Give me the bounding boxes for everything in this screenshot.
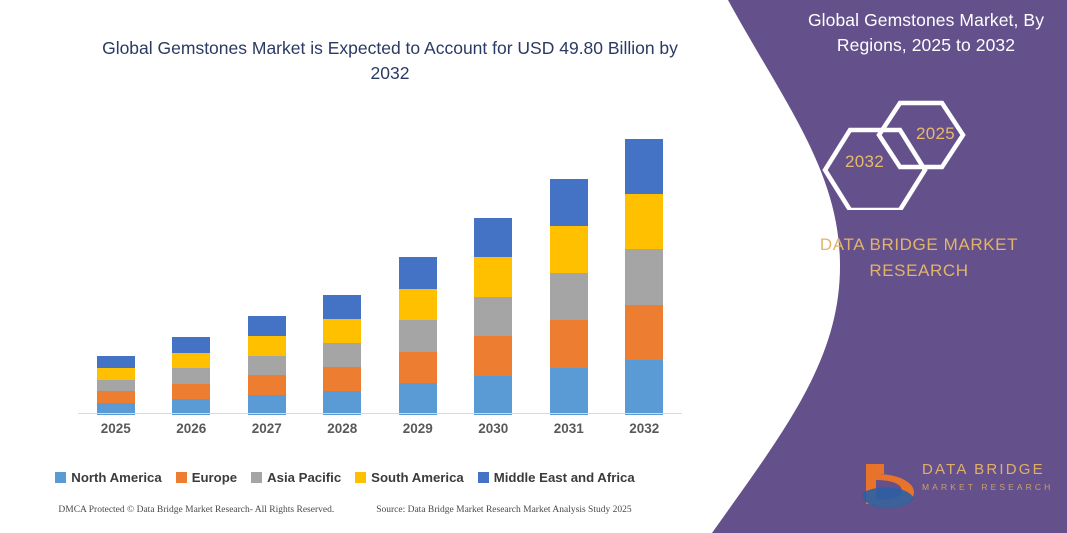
legend-swatch-icon	[251, 472, 262, 483]
bar-segment	[323, 295, 361, 319]
bar-segment	[550, 368, 588, 415]
bar-2031	[550, 179, 588, 415]
hexagon-2025-label: 2025	[916, 124, 955, 144]
legend-label: Asia Pacific	[267, 470, 341, 485]
bar-segment	[550, 320, 588, 367]
bar-segment	[625, 139, 663, 194]
legend-label: North America	[71, 470, 161, 485]
footer-copyright: DMCA Protected © Data Bridge Market Rese…	[58, 505, 334, 515]
legend-swatch-icon	[55, 472, 66, 483]
bar-2030	[474, 218, 512, 415]
bar-segment	[172, 337, 210, 353]
bar-segment	[172, 353, 210, 369]
brand-name: DATA BRIDGE MARKET RESEARCH	[780, 232, 1058, 283]
bar-segment	[172, 384, 210, 400]
x-axis-line	[78, 413, 682, 414]
legend-item-europe[interactable]: Europe	[176, 470, 237, 485]
x-label-2028: 2028	[307, 421, 377, 436]
bar-segment	[474, 218, 512, 257]
bar-2028	[323, 295, 361, 415]
x-axis-labels: 20252026202720282029203020312032	[78, 421, 682, 443]
bar-segment	[248, 356, 286, 376]
bar-segment	[625, 194, 663, 249]
footer-source: Source: Data Bridge Market Research Mark…	[376, 505, 631, 515]
footer: DMCA Protected © Data Bridge Market Rese…	[0, 505, 690, 515]
bar-segment	[172, 368, 210, 384]
legend-swatch-icon	[176, 472, 187, 483]
bar-segment	[97, 368, 135, 380]
bar-2032	[625, 139, 663, 415]
hexagon-2032-label: 2032	[845, 152, 884, 172]
bar-segment	[399, 257, 437, 289]
legend-item-middle-east-and-africa[interactable]: Middle East and Africa	[478, 470, 635, 485]
bar-segment	[399, 289, 437, 321]
bar-segment	[399, 352, 437, 384]
bar-segment	[399, 320, 437, 352]
chart-legend: North AmericaEuropeAsia PacificSouth Ame…	[0, 470, 690, 485]
bar-segment	[550, 226, 588, 273]
bar-2025	[97, 356, 135, 415]
bar-segment	[248, 316, 286, 336]
x-label-2032: 2032	[609, 421, 679, 436]
bar-segment	[248, 336, 286, 356]
bar-segment	[323, 367, 361, 391]
infographic-canvas: Global Gemstones Market is Expected to A…	[0, 0, 1067, 533]
bar-segment	[323, 391, 361, 415]
logo-line-1: DATA BRIDGE	[922, 462, 1062, 479]
stacked-bar-chart	[78, 120, 682, 415]
bar-segment	[248, 375, 286, 395]
legend-item-north-america[interactable]: North America	[55, 470, 161, 485]
bar-segment	[97, 380, 135, 392]
legend-swatch-icon	[355, 472, 366, 483]
bar-segment	[625, 360, 663, 415]
x-label-2025: 2025	[81, 421, 151, 436]
x-label-2029: 2029	[383, 421, 453, 436]
bar-segment	[474, 336, 512, 375]
bar-segment	[550, 273, 588, 320]
bar-segment	[97, 356, 135, 368]
bar-segment	[625, 249, 663, 304]
bar-2029	[399, 257, 437, 415]
bar-segment	[97, 391, 135, 403]
right-branding-panel: Global Gemstones Market, By Regions, 202…	[690, 0, 1067, 533]
logo-line-2: MARKET RESEARCH	[922, 482, 1062, 494]
bar-2027	[248, 316, 286, 415]
bar-segment	[323, 319, 361, 343]
bar-2026	[172, 337, 210, 415]
legend-item-south-america[interactable]: South America	[355, 470, 464, 485]
legend-label: Middle East and Africa	[494, 470, 635, 485]
legend-label: Europe	[192, 470, 237, 485]
x-label-2030: 2030	[458, 421, 528, 436]
hexagon-graphic	[790, 95, 1055, 210]
bar-segment	[550, 179, 588, 226]
x-label-2031: 2031	[534, 421, 604, 436]
bar-segment	[323, 343, 361, 367]
x-label-2026: 2026	[156, 421, 226, 436]
x-label-2027: 2027	[232, 421, 302, 436]
bar-segment	[625, 305, 663, 360]
page-title: Global Gemstones Market is Expected to A…	[90, 36, 690, 86]
bar-segment	[474, 376, 512, 415]
bar-segment	[474, 257, 512, 296]
bar-segment	[399, 383, 437, 415]
legend-swatch-icon	[478, 472, 489, 483]
bar-segment	[474, 297, 512, 336]
panel-title: Global Gemstones Market, By Regions, 202…	[795, 8, 1057, 59]
logo-wordmark: DATA BRIDGE MARKET RESEARCH	[922, 462, 1062, 493]
legend-item-asia-pacific[interactable]: Asia Pacific	[251, 470, 341, 485]
legend-label: South America	[371, 470, 464, 485]
